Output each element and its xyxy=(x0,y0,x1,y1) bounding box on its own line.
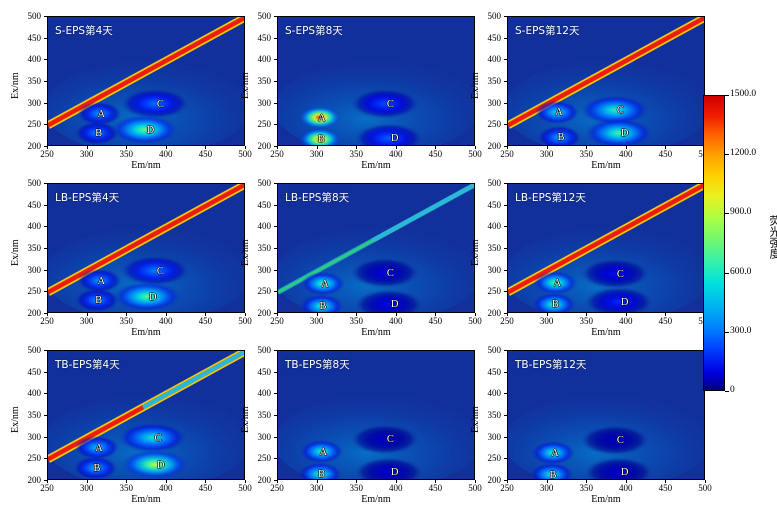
peak-label-c-s-eps-day4: C xyxy=(157,99,164,110)
panel-title-lb-eps-day12: LB-EPS第12天 xyxy=(515,190,586,205)
colorbar-tick-mark xyxy=(725,95,729,96)
peak-label-a-tb-eps-day12: A xyxy=(551,448,559,459)
peak-label-b-lb-eps-day4: B xyxy=(95,295,102,306)
peak-label-c-tb-eps-day4: C xyxy=(155,433,162,444)
colorbar-tick-label: 0 xyxy=(730,386,735,395)
panel-title-s-eps-day12: S-EPS第12天 xyxy=(515,23,579,38)
colorbar-tick-label: 1500.0 xyxy=(730,90,756,99)
peak-label-a-lb-eps-day8: A xyxy=(321,279,329,290)
peak-label-a-lb-eps-day4: A xyxy=(97,276,105,287)
peak-label-d-lb-eps-day12: D xyxy=(621,297,629,308)
colorbar-tick-mark xyxy=(725,213,729,214)
peak-label-b-s-eps-day12: B xyxy=(557,132,564,143)
colorbar-tick-mark xyxy=(725,391,729,392)
peak-label-a-s-eps-day4: A xyxy=(97,109,105,120)
peak-label-b-lb-eps-day8: B xyxy=(320,301,327,312)
panel-title-s-eps-day4: S-EPS第4天 xyxy=(55,23,113,38)
peak-label-d-s-eps-day8: D xyxy=(391,133,399,144)
peak-label-d-lb-eps-day8: D xyxy=(391,299,399,310)
panel-title-lb-eps-day4: LB-EPS第4天 xyxy=(55,190,119,205)
peak-label-d-s-eps-day12: D xyxy=(621,128,629,139)
peak-label-c-tb-eps-day8: C xyxy=(387,434,394,445)
panel-title-tb-eps-day8: TB-EPS第8天 xyxy=(285,357,350,372)
colorbar-tick-label: 900.0 xyxy=(730,208,751,217)
peak-label-d-s-eps-day4: D xyxy=(147,125,155,136)
colorbar-gradient xyxy=(703,95,725,391)
peak-label-c-lb-eps-day12: C xyxy=(617,269,624,280)
peak-label-a-lb-eps-day12: A xyxy=(554,278,562,289)
panel-title-tb-eps-day4: TB-EPS第4天 xyxy=(55,357,120,372)
peak-label-d-tb-eps-day8: D xyxy=(391,467,399,478)
eem-fluorescence-figure: S-EPS第4天ABCD2002503003504004505002503003… xyxy=(0,0,777,523)
peak-label-a-s-eps-day12: A xyxy=(555,107,563,118)
peak-label-c-s-eps-day8: C xyxy=(387,99,394,110)
peak-label-b-s-eps-day8: B xyxy=(318,134,325,145)
colorbar-tick-mark xyxy=(725,154,729,155)
peak-label-b-lb-eps-day12: B xyxy=(552,299,559,310)
colorbar-tick-label: 300.0 xyxy=(730,327,751,336)
peak-label-d-tb-eps-day4: D xyxy=(157,460,165,471)
peak-label-a-tb-eps-day4: A xyxy=(95,443,103,454)
colorbar-tick-mark xyxy=(725,273,729,274)
colorbar-tick-label: 1200.0 xyxy=(730,149,756,158)
peak-label-a-tb-eps-day8: A xyxy=(320,447,328,458)
peak-label-b-tb-eps-day8: B xyxy=(318,469,325,480)
peak-label-b-s-eps-day4: B xyxy=(95,128,102,139)
colorbar-tick-label: 600.0 xyxy=(730,268,751,277)
colorbar-tick-mark xyxy=(725,332,729,333)
peak-label-a-s-eps-day8: A xyxy=(318,113,326,124)
panel-title-tb-eps-day12: TB-EPS第12天 xyxy=(515,357,586,372)
peak-label-b-tb-eps-day4: B xyxy=(94,463,101,474)
peak-label-c-tb-eps-day12: C xyxy=(617,435,624,446)
peak-label-d-lb-eps-day4: D xyxy=(149,292,157,303)
peak-label-b-tb-eps-day12: B xyxy=(550,470,557,481)
panel-title-s-eps-day8: S-EPS第8天 xyxy=(285,23,343,38)
panel-title-lb-eps-day8: LB-EPS第8天 xyxy=(285,190,349,205)
peak-label-c-lb-eps-day4: C xyxy=(157,266,164,277)
peak-label-c-lb-eps-day8: C xyxy=(387,268,394,279)
peak-label-c-s-eps-day12: C xyxy=(617,105,624,116)
peak-label-d-tb-eps-day12: D xyxy=(621,467,629,478)
colorbar-title: 荧光强度 xyxy=(769,215,777,259)
